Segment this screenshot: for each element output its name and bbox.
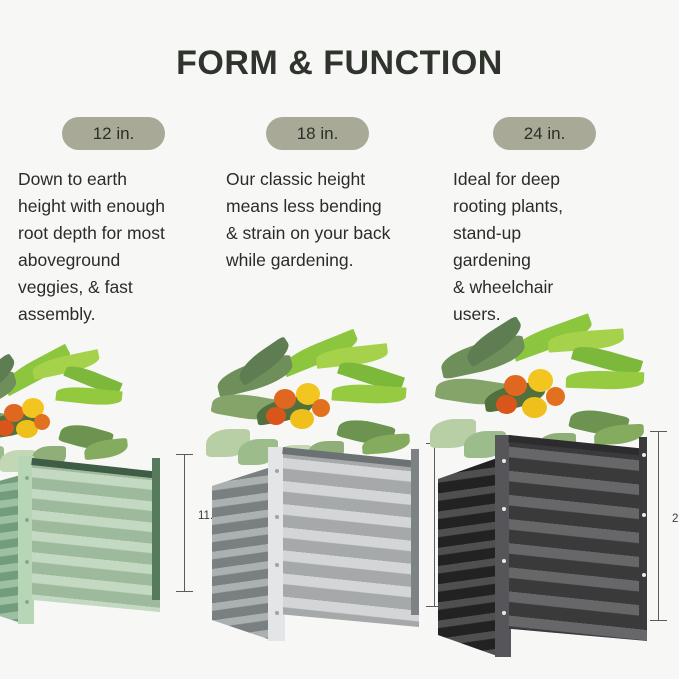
size-badge-24in: 24 in.	[493, 117, 596, 150]
product-photo-stage: 11.8" tall	[0, 330, 679, 679]
orange-flower-icon	[274, 389, 296, 409]
rivet-icon	[25, 476, 29, 480]
rivet-column	[22, 456, 32, 624]
rivet-icon	[502, 559, 506, 563]
rivet-icon	[642, 513, 646, 517]
feature-description-24in: Ideal for deep rooting plants, stand-up …	[453, 166, 663, 328]
infographic-page: FORM & FUNCTION 12 in. Down to earth hei…	[0, 0, 679, 679]
rivet-icon	[25, 600, 29, 604]
measure-line	[184, 454, 185, 592]
height-measure-24in: 23.6" tall	[650, 431, 679, 621]
rivet-column	[640, 437, 650, 629]
orange-flower-icon	[546, 387, 565, 406]
feature-description-18in: Our classic height means less bending & …	[226, 166, 436, 274]
rivet-icon	[502, 611, 506, 615]
orange-flower-icon	[496, 395, 517, 414]
product-photo-12in: 11.8" tall	[0, 354, 190, 624]
measure-label-24in: 23.6" tall	[672, 513, 679, 525]
feature-column-18in: 18 in. Our classic height means less ben…	[226, 117, 436, 274]
measure-cap-top	[650, 431, 667, 432]
yellow-flower-icon	[290, 409, 314, 429]
planter-front-panel-charcoal	[509, 437, 647, 641]
feature-column-24in: 24 in. Ideal for deep rooting plants, st…	[453, 117, 663, 328]
planter-right-edge-green	[152, 458, 160, 600]
planter-right-edge-charcoal	[639, 437, 647, 629]
page-title: FORM & FUNCTION	[0, 44, 679, 83]
orange-flower-icon	[504, 375, 527, 396]
rivet-icon	[275, 563, 279, 567]
measure-cap-bottom	[176, 591, 193, 592]
feature-description-12in: Down to earth height with enough root de…	[18, 166, 228, 328]
planter-front-face-silver	[283, 449, 419, 627]
orange-flower-icon	[266, 407, 286, 425]
planter-front-panel-green	[32, 460, 160, 612]
rivet-icon	[275, 515, 279, 519]
corrugation-texture	[32, 460, 160, 612]
planter-front-panel-silver	[283, 449, 419, 627]
rivet-icon	[502, 507, 506, 511]
product-photo-18in: 17.7" tall	[212, 341, 462, 641]
orange-flower-icon	[34, 414, 50, 430]
size-badge-18in: 18 in.	[266, 117, 369, 150]
measure-cap-top	[176, 454, 193, 455]
product-photo-24in: 23.6" tall	[438, 327, 679, 657]
rivet-icon	[275, 469, 279, 473]
palm-frond-icon	[331, 382, 406, 405]
corrugation-texture	[283, 449, 419, 627]
feature-columns: 12 in. Down to earth height with enough …	[0, 117, 679, 327]
planter-side-face-silver	[212, 466, 274, 641]
planter-front-face-charcoal	[509, 437, 647, 641]
yellow-flower-icon	[522, 397, 547, 418]
planter-right-edge-silver	[411, 449, 419, 615]
rivet-icon	[25, 560, 29, 564]
rivet-icon	[25, 518, 29, 522]
measure-line	[658, 431, 659, 621]
rivet-column	[272, 447, 282, 641]
rivet-icon	[642, 453, 646, 457]
orange-flower-icon	[312, 399, 330, 417]
planter-side-face-charcoal	[438, 457, 500, 657]
rivet-icon	[642, 573, 646, 577]
corrugation-texture	[509, 437, 647, 641]
rivet-icon	[502, 459, 506, 463]
corrugation-texture	[212, 466, 274, 641]
palm-frond-icon	[566, 370, 645, 391]
planter-side-panel-silver	[212, 466, 274, 641]
feature-column-12in: 12 in. Down to earth height with enough …	[18, 117, 228, 328]
size-badge-12in: 12 in.	[62, 117, 165, 150]
planter-side-panel-charcoal	[438, 457, 500, 657]
corrugation-texture	[438, 457, 500, 657]
rivet-column	[499, 435, 509, 657]
planter-front-face-green	[32, 460, 160, 612]
rivet-icon	[275, 611, 279, 615]
measure-cap-bottom	[650, 620, 667, 621]
measure-line	[434, 443, 435, 607]
